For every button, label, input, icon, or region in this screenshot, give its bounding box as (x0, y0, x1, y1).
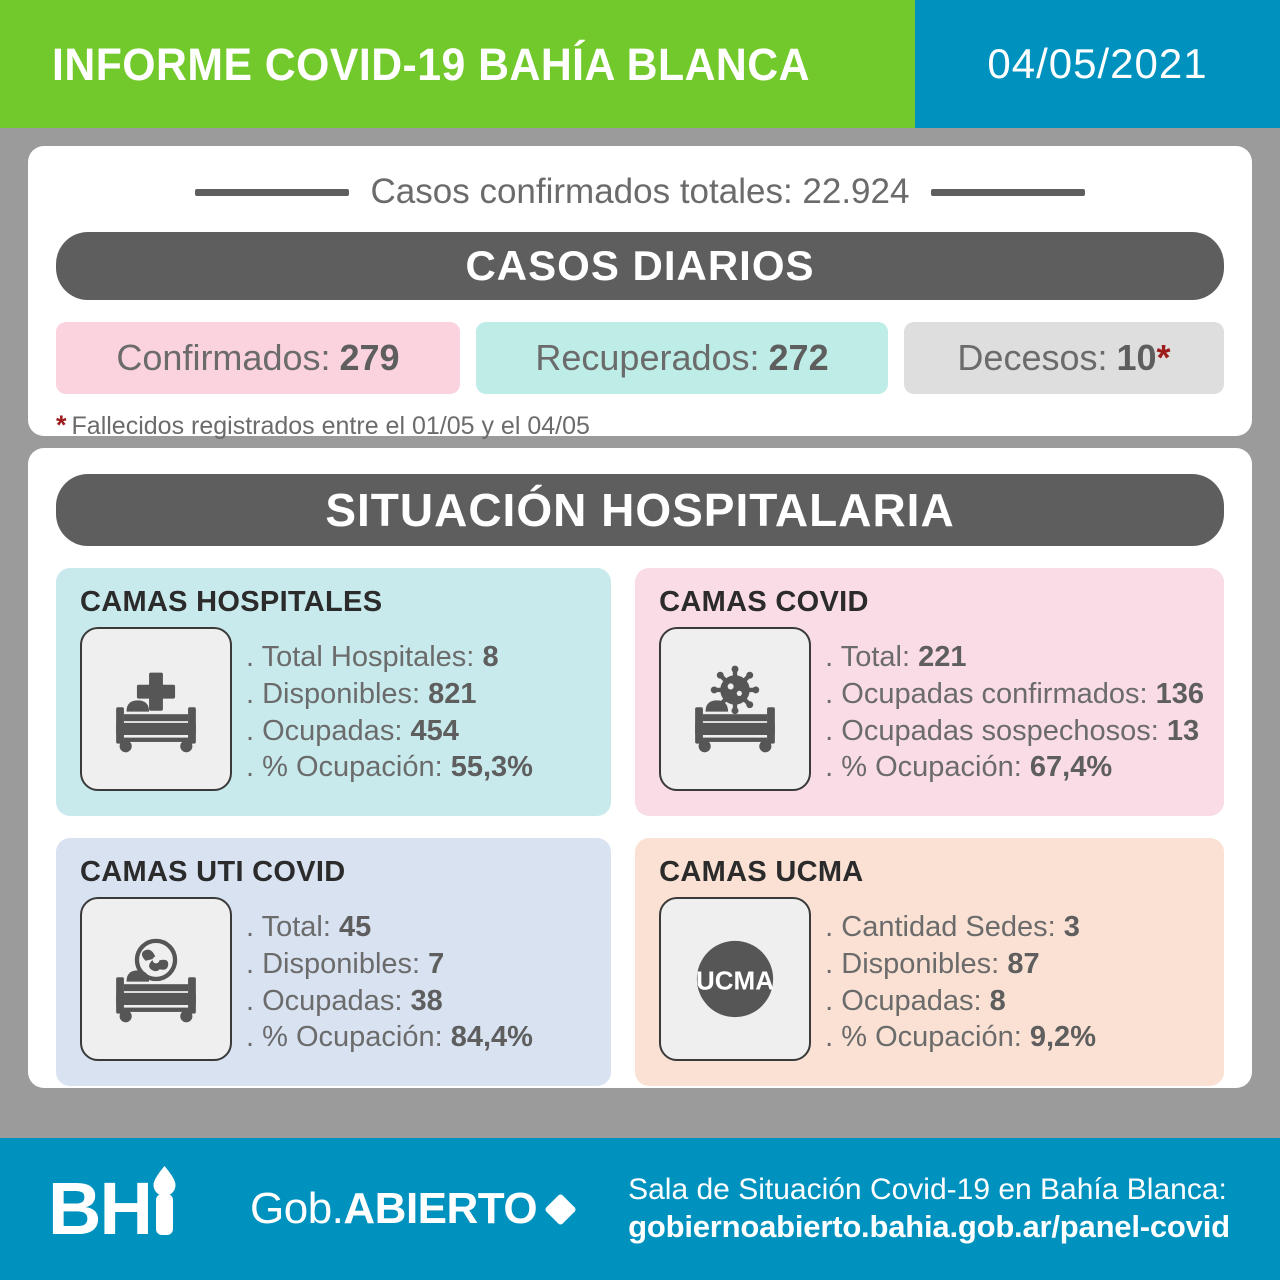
footer-url[interactable]: gobiernoabierto.bahia.gob.ar/panel-covid (628, 1208, 1230, 1246)
hospital-bed-cross-icon (80, 627, 232, 791)
gob-abierto-bold: ABIERTO (343, 1184, 537, 1234)
stat-line: . % Ocupación: 9,2% (825, 1019, 1096, 1056)
chip-decesos: Decesos: 10* (904, 322, 1224, 394)
footnote-asterisk: * (56, 412, 67, 439)
diamond-icon (544, 1193, 577, 1226)
svg-text:BH: BH (48, 1167, 151, 1250)
chip-confirmados: Confirmados: 279 (56, 322, 460, 394)
stat-value: 3 (1064, 911, 1080, 943)
stat-label: . % Ocupación: (246, 751, 443, 783)
page-header: INFORME COVID-19 BAHÍA BLANCA 04/05/2021 (0, 0, 1280, 128)
card-camas-ucma-stats: . Cantidad Sedes: 3 . Disponibles: 87 . … (825, 897, 1096, 1056)
chip-recuperados-label: Recuperados: (535, 337, 759, 379)
page-footer: BH Gob.ABIERTO Sala de Situación Covid-1… (0, 1138, 1280, 1280)
stat-label: . Total: (246, 911, 331, 943)
card-camas-hospitales-body: . Total Hospitales: 8 . Disponibles: 821… (80, 627, 591, 791)
stat-line: . Disponibles: 87 (825, 946, 1096, 983)
stat-label: . % Ocupación: (825, 751, 1022, 783)
stat-line: . % Ocupación: 67,4% (825, 749, 1204, 786)
stat-label: . Ocupadas sospechosos: (825, 715, 1159, 747)
footer-tagline: Sala de Situación Covid-19 en Bahía Blan… (628, 1172, 1230, 1209)
chip-confirmados-value: 279 (340, 337, 400, 379)
stat-label: . Total Hospitales: (246, 641, 474, 673)
stat-value: 67,4% (1030, 751, 1112, 783)
rule-left (195, 189, 349, 196)
stat-value: 38 (410, 985, 442, 1017)
card-camas-covid: CAMAS COVID (635, 568, 1224, 816)
stat-label: . Disponibles: (246, 948, 420, 980)
card-camas-covid-body: . Total: 221 . Ocupadas confirmados: 136… (659, 627, 1204, 791)
stat-line: . Ocupadas: 38 (246, 983, 533, 1020)
page-title: INFORME COVID-19 BAHÍA BLANCA (52, 42, 810, 87)
hospital-card-grid: CAMAS HOSPITALES (56, 568, 1224, 1086)
daily-cases-heading: CASOS DIARIOS (56, 232, 1224, 300)
stat-line: . Total: 45 (246, 909, 533, 946)
stat-value: 8 (990, 985, 1006, 1017)
footnote-text: Fallecidos registrados entre el 01/05 y … (72, 412, 590, 441)
stat-value: 84,4% (451, 1021, 533, 1053)
card-camas-uti-covid-body: . Total: 45 . Disponibles: 7 . Ocupadas:… (80, 897, 591, 1061)
stat-line: . Cantidad Sedes: 3 (825, 909, 1096, 946)
card-camas-covid-title: CAMAS COVID (659, 586, 1204, 619)
total-confirmed-label: Casos confirmados totales: 22.924 (371, 172, 910, 212)
stat-value: 8 (482, 641, 498, 673)
deaths-footnote: * Fallecidos registrados entre el 01/05 … (56, 412, 1224, 441)
rule-right (931, 189, 1085, 196)
bhi-logo: BH (48, 1164, 198, 1255)
chip-recuperados: Recuperados: 272 (476, 322, 888, 394)
hospital-bed-ventilator-icon (80, 897, 232, 1061)
ucma-badge-label: UCMA (696, 965, 774, 995)
stat-label: . Total: (825, 641, 910, 673)
stat-line: . % Ocupación: 84,4% (246, 1019, 533, 1056)
stat-line: . Disponibles: 821 (246, 676, 533, 713)
card-camas-uti-covid-stats: . Total: 45 . Disponibles: 7 . Ocupadas:… (246, 897, 533, 1056)
stat-line: . Ocupadas: 8 (825, 983, 1096, 1020)
stat-label: . Cantidad Sedes: (825, 911, 1056, 943)
chip-decesos-label: Decesos: (957, 337, 1107, 379)
stat-label: . Ocupadas: (246, 985, 402, 1017)
footer-link-block[interactable]: Sala de Situación Covid-19 en Bahía Blan… (628, 1172, 1230, 1246)
hospital-bed-virus-icon (659, 627, 811, 791)
hospital-situation-panel: SITUACIÓN HOSPITALARIA CAMAS HOSPITALES (28, 448, 1252, 1088)
ucma-badge-icon: UCMA (659, 897, 811, 1061)
stat-label: . % Ocupación: (825, 1021, 1022, 1053)
header-title-band: INFORME COVID-19 BAHÍA BLANCA (0, 0, 915, 128)
infographic-page: INFORME COVID-19 BAHÍA BLANCA 04/05/2021… (0, 0, 1280, 1280)
card-camas-ucma: CAMAS UCMA UCMA . Cantidad Sedes: 3 . Di… (635, 838, 1224, 1086)
gob-abierto-light: Gob. (250, 1184, 343, 1234)
stat-label: . Ocupadas: (825, 985, 981, 1017)
stat-value: 136 (1156, 678, 1204, 710)
chip-recuperados-value: 272 (769, 337, 829, 379)
chip-confirmados-label: Confirmados: (116, 337, 330, 379)
card-camas-ucma-title: CAMAS UCMA (659, 856, 1204, 889)
chip-decesos-value: 10 (1117, 337, 1157, 379)
hospital-situation-heading: SITUACIÓN HOSPITALARIA (56, 474, 1224, 546)
stat-label: . Ocupadas: (246, 715, 402, 747)
card-camas-covid-stats: . Total: 221 . Ocupadas confirmados: 136… (825, 627, 1204, 786)
stat-value: 87 (1007, 948, 1039, 980)
stat-line: . % Ocupación: 55,3% (246, 749, 533, 786)
card-camas-hospitales: CAMAS HOSPITALES (56, 568, 611, 816)
report-date: 04/05/2021 (987, 40, 1207, 88)
stat-line: . Ocupadas: 454 (246, 713, 533, 750)
stat-value: 454 (410, 715, 458, 747)
stat-value: 13 (1167, 715, 1199, 747)
stat-label: . Disponibles: (825, 948, 999, 980)
daily-chip-row: Confirmados: 279 Recuperados: 272 Deceso… (56, 322, 1224, 394)
card-camas-uti-covid: CAMAS UTI COVID (56, 838, 611, 1086)
card-camas-uti-covid-title: CAMAS UTI COVID (80, 856, 591, 889)
card-camas-ucma-body: UCMA . Cantidad Sedes: 3 . Disponibles: … (659, 897, 1204, 1061)
card-camas-hospitales-title: CAMAS HOSPITALES (80, 586, 591, 619)
card-camas-hospitales-stats: . Total Hospitales: 8 . Disponibles: 821… (246, 627, 533, 786)
daily-cases-panel: Casos confirmados totales: 22.924 CASOS … (28, 146, 1252, 436)
stat-label: . Disponibles: (246, 678, 420, 710)
stat-line: . Disponibles: 7 (246, 946, 533, 983)
stat-value: 221 (918, 641, 966, 673)
stat-line: . Total: 221 (825, 639, 1204, 676)
stat-label: . Ocupadas confirmados: (825, 678, 1147, 710)
stat-value: 821 (428, 678, 476, 710)
gob-abierto-logo: Gob.ABIERTO (250, 1184, 572, 1234)
chip-decesos-asterisk: * (1157, 337, 1171, 379)
stat-value: 55,3% (451, 751, 533, 783)
total-cases-row: Casos confirmados totales: 22.924 (56, 172, 1224, 212)
stat-value: 7 (428, 948, 444, 980)
stat-label: . % Ocupación: (246, 1021, 443, 1053)
stat-value: 9,2% (1030, 1021, 1096, 1053)
stat-line: . Total Hospitales: 8 (246, 639, 533, 676)
header-date-band: 04/05/2021 (915, 0, 1280, 128)
stat-value: 45 (339, 911, 371, 943)
stat-line: . Ocupadas confirmados: 136 (825, 676, 1204, 713)
stat-line: . Ocupadas sospechosos: 13 (825, 713, 1204, 750)
